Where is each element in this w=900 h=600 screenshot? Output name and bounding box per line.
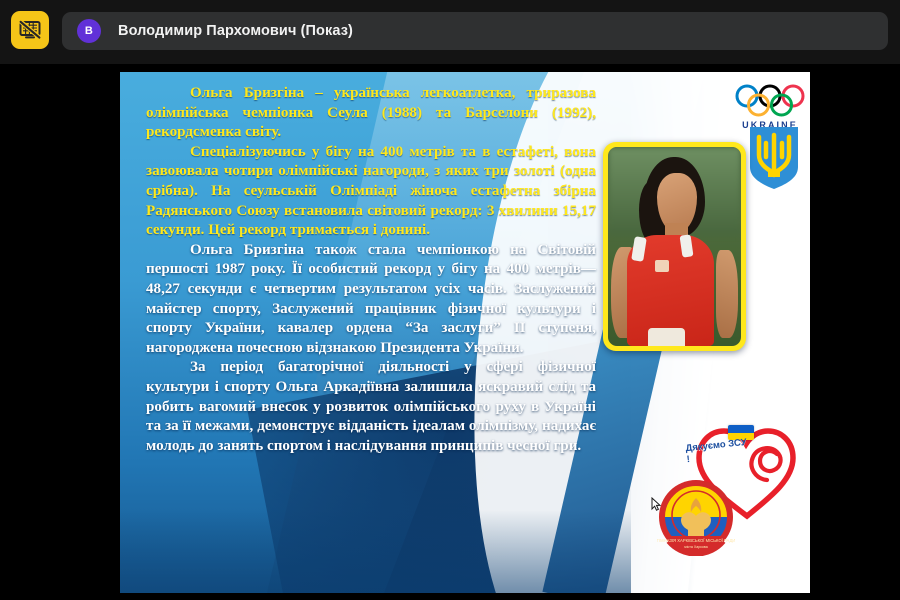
- olympic-emblem: UKRAINE: [727, 84, 810, 130]
- svg-text:міста Харкова: міста Харкова: [684, 545, 708, 549]
- athlete-photo-frame: [603, 142, 746, 351]
- photo-singlet-logo: [655, 260, 670, 272]
- olympic-rings-icon: [727, 84, 810, 118]
- stop-screen-share-icon: [19, 20, 41, 40]
- avatar: В: [77, 19, 101, 43]
- slide-paragraph-3: Ольга Бризгіна також стала чемпіонкою на…: [146, 241, 596, 359]
- photo-arm-right: [716, 250, 739, 338]
- slide-paragraph-4: За період багаторічної діяльності у сфер…: [146, 358, 596, 456]
- athlete-photo: [608, 147, 741, 346]
- presentation-slide: Ольга Бризгіна – українська легкоатлетка…: [120, 72, 810, 593]
- meeting-topbar: В Володимир Пархомович (Показ): [0, 0, 900, 64]
- svg-text:ГІМНАЗІЯ ХАРКІВСЬКОЇ МІСЬКОЇ Р: ГІМНАЗІЯ ХАРКІВСЬКОЇ МІСЬКОЇ РАДИ: [657, 538, 735, 543]
- school-emblem-icon: ГІМНАЗІЯ ХАРКІВСЬКОЇ МІСЬКОЇ РАДИ міста …: [657, 478, 735, 556]
- ukraine-trident-icon: [748, 127, 800, 189]
- speaker-name: Володимир Пархомович (Показ): [118, 23, 353, 39]
- photo-waistband: [648, 328, 685, 346]
- slide-paragraph-1: Ольга Бризгіна – українська легкоатлетка…: [146, 84, 596, 143]
- stop-screen-share-button[interactable]: [11, 11, 49, 49]
- slide-background-bottom-band: [120, 510, 631, 593]
- mouse-cursor-icon: [651, 497, 661, 512]
- slide-body-text: Ольга Бризгіна – українська легкоатлетка…: [146, 84, 596, 456]
- shared-screen-stage[interactable]: Ольга Бризгіна – українська легкоатлетка…: [0, 64, 900, 600]
- slide-paragraph-2: Спеціалізуючись у бігу на 400 метрів та …: [146, 143, 596, 241]
- screen-share-window: В Володимир Пархомович (Показ) Ольга Бри…: [0, 0, 900, 600]
- active-speaker-pill[interactable]: В Володимир Пархомович (Показ): [62, 12, 888, 50]
